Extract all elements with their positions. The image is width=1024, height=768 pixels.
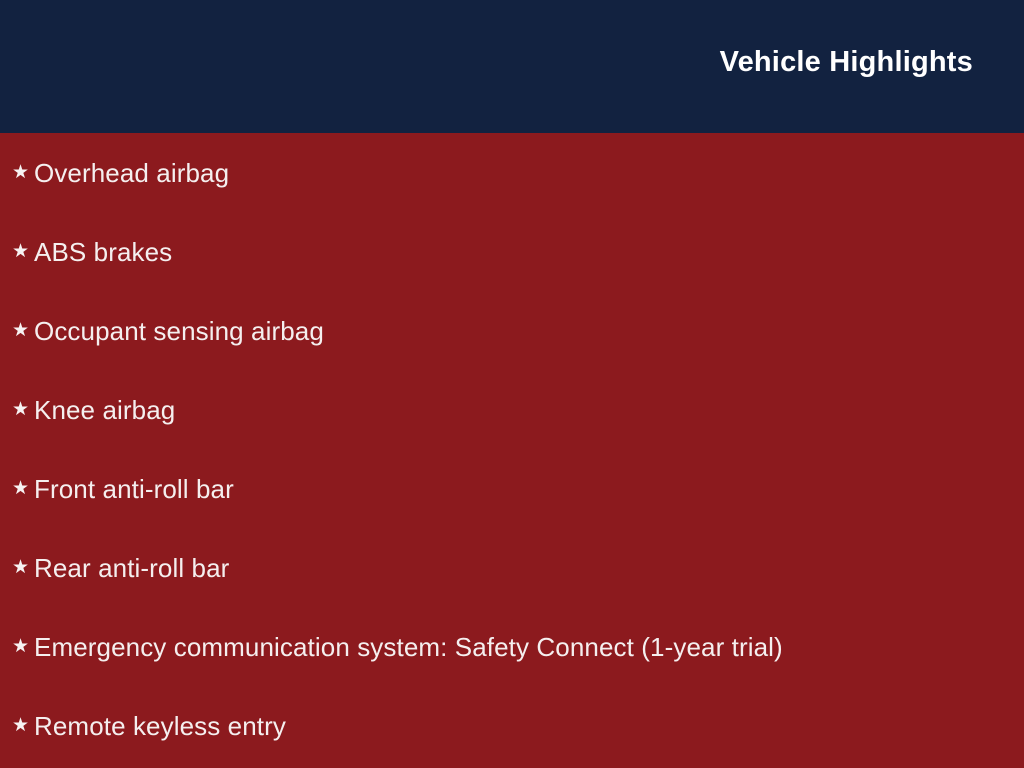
list-item-label: Rear anti-roll bar bbox=[34, 552, 229, 584]
star-bullet-icon: ★ bbox=[12, 321, 34, 340]
list-item: ★ ABS brakes bbox=[0, 212, 1024, 291]
vehicle-highlights-list: ★ Overhead airbag ★ ABS brakes ★ Occupan… bbox=[0, 133, 1024, 765]
star-bullet-icon: ★ bbox=[12, 163, 34, 182]
header-band: Vehicle Highlights bbox=[0, 0, 1024, 133]
list-item: ★ Emergency communication system: Safety… bbox=[0, 607, 1024, 686]
list-item: ★ Occupant sensing airbag bbox=[0, 291, 1024, 370]
list-item: ★ Front anti-roll bar bbox=[0, 449, 1024, 528]
list-item-label: Remote keyless entry bbox=[34, 710, 286, 742]
list-item-label: ABS brakes bbox=[34, 236, 172, 268]
star-bullet-icon: ★ bbox=[12, 242, 34, 261]
list-item: ★ Rear anti-roll bar bbox=[0, 528, 1024, 607]
list-item: ★ Overhead airbag bbox=[0, 133, 1024, 212]
list-item-label: Front anti-roll bar bbox=[34, 473, 234, 505]
list-item-label: Knee airbag bbox=[34, 394, 175, 426]
star-bullet-icon: ★ bbox=[12, 479, 34, 498]
list-item-label: Overhead airbag bbox=[34, 157, 229, 189]
slide-root: Vehicle Highlights ★ Overhead airbag ★ A… bbox=[0, 0, 1024, 768]
star-bullet-icon: ★ bbox=[12, 637, 34, 656]
star-bullet-icon: ★ bbox=[12, 400, 34, 419]
star-bullet-icon: ★ bbox=[12, 558, 34, 577]
list-item: ★ Remote keyless entry bbox=[0, 686, 1024, 765]
star-bullet-icon: ★ bbox=[12, 716, 34, 735]
page-title: Vehicle Highlights bbox=[720, 45, 973, 79]
list-item: ★ Knee airbag bbox=[0, 370, 1024, 449]
list-item-label: Emergency communication system: Safety C… bbox=[34, 631, 783, 663]
list-item-label: Occupant sensing airbag bbox=[34, 315, 324, 347]
